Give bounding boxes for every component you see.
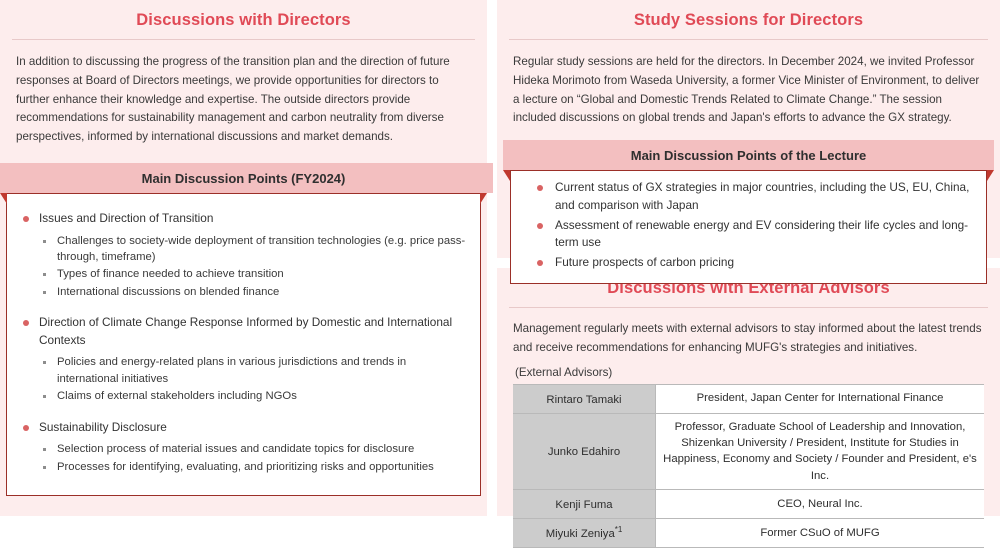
bullet-dot-icon xyxy=(537,260,543,266)
sub-bullet-square-icon xyxy=(43,395,46,398)
list-item: International discussions on blended fin… xyxy=(39,284,466,300)
bullet-dot-icon xyxy=(23,320,29,326)
sub-bullet-text: Policies and energy-related plans in var… xyxy=(57,356,406,384)
sub-bullet-text: Selection process of material issues and… xyxy=(57,443,414,455)
bullet-list-level2: Challenges to society-wide deployment of… xyxy=(39,233,466,301)
advisor-name: Miyuki Zeniya xyxy=(546,528,615,540)
list-item: Current status of GX strategies in major… xyxy=(521,179,974,214)
bullet-group: Issues and Direction of Transition Chall… xyxy=(19,210,466,300)
ribbon-fold-left-icon xyxy=(503,170,510,181)
sub-bullet-square-icon xyxy=(43,466,46,469)
sub-bullet-text: Processes for identifying, evaluating, a… xyxy=(57,461,434,473)
lecture-point-text: Assessment of renewable energy and EV co… xyxy=(555,218,968,250)
list-item: Assessment of renewable energy and EV co… xyxy=(521,217,974,252)
right-bottom-intro-text: Management regularly meets with external… xyxy=(497,308,1000,364)
bullet-dot-icon xyxy=(23,425,29,431)
table-row: Miyuki Zeniya*1 Former CSuO of MUFG xyxy=(513,519,984,548)
left-column: Discussions with Directors In addition t… xyxy=(0,0,487,516)
advisor-role-cell: CEO, Neural Inc. xyxy=(656,490,985,519)
list-item: Types of finance needed to achieve trans… xyxy=(39,266,466,282)
page-title-right-top: Study Sessions for Directors xyxy=(497,0,1000,39)
advisors-table-wrap: (External Advisors) Rintaro Tamaki Presi… xyxy=(497,364,1000,548)
bullet-dot-icon xyxy=(23,216,29,222)
right-ribbon-wrap: Main Discussion Points of the Lecture xyxy=(497,140,1000,170)
lecture-point-text: Future prospects of carbon pricing xyxy=(555,255,734,269)
bullet-dot-icon xyxy=(537,185,543,191)
bullet-list-level1: Sustainability Disclosure Selection proc… xyxy=(19,419,466,475)
bullet-group: Sustainability Disclosure Selection proc… xyxy=(19,419,466,475)
advisor-name-cell: Miyuki Zeniya*1 xyxy=(513,519,656,548)
advisor-name-cell: Junko Edahiro xyxy=(513,413,656,490)
list-item: Future prospects of carbon pricing xyxy=(521,254,974,272)
sub-bullet-text: Types of finance needed to achieve trans… xyxy=(57,268,284,280)
footnote-marker: *1 xyxy=(615,525,623,534)
lecture-points-list: Current status of GX strategies in major… xyxy=(521,179,974,271)
sub-bullet-square-icon xyxy=(43,291,46,294)
sub-bullet-text: International discussions on blended fin… xyxy=(57,286,279,298)
advisor-name: Kenji Fuma xyxy=(555,499,612,511)
ribbon-fold-left-icon xyxy=(0,193,7,204)
list-item: Challenges to society-wide deployment of… xyxy=(39,233,466,266)
list-item: Direction of Climate Change Response Inf… xyxy=(19,314,466,405)
bullet-heading: Direction of Climate Change Response Inf… xyxy=(39,315,452,347)
sub-bullet-text: Challenges to society-wide deployment of… xyxy=(57,235,465,263)
bullet-heading: Sustainability Disclosure xyxy=(39,420,167,434)
list-item: Issues and Direction of Transition Chall… xyxy=(19,210,466,300)
advisors-table-caption: (External Advisors) xyxy=(513,364,984,384)
right-top-intro-text: Regular study sessions are held for the … xyxy=(497,40,1000,138)
page-root: Discussions with Directors In addition t… xyxy=(0,0,1000,516)
left-ribbon-wrap: Main Discussion Points (FY2024) xyxy=(0,163,487,193)
advisor-role-cell: President, Japan Center for Internationa… xyxy=(656,384,985,413)
page-title-left: Discussions with Directors xyxy=(0,0,487,39)
ribbon-fold-right-icon xyxy=(987,170,994,181)
advisor-name: Rintaro Tamaki xyxy=(546,393,621,405)
sub-bullet-square-icon xyxy=(43,448,46,451)
bullet-heading: Issues and Direction of Transition xyxy=(39,211,213,225)
right-column: Study Sessions for Directors Regular stu… xyxy=(497,0,1000,516)
list-item: Sustainability Disclosure Selection proc… xyxy=(19,419,466,475)
advisors-table: Rintaro Tamaki President, Japan Center f… xyxy=(513,384,984,548)
right-banner-title: Main Discussion Points of the Lecture xyxy=(503,140,994,170)
list-item: Policies and energy-related plans in var… xyxy=(39,354,466,387)
bullet-dot-icon xyxy=(537,223,543,229)
list-item: Processes for identifying, evaluating, a… xyxy=(39,459,466,475)
ribbon-fold-right-icon xyxy=(480,193,487,204)
advisor-name-cell: Rintaro Tamaki xyxy=(513,384,656,413)
bullet-group: Direction of Climate Change Response Inf… xyxy=(19,314,466,405)
lecture-point-text: Current status of GX strategies in major… xyxy=(555,180,969,212)
list-item: Selection process of material issues and… xyxy=(39,441,466,457)
advisor-name-cell: Kenji Fuma xyxy=(513,490,656,519)
list-item: Claims of external stakeholders includin… xyxy=(39,388,466,404)
table-row: Kenji Fuma CEO, Neural Inc. xyxy=(513,490,984,519)
bullet-list-level1: Direction of Climate Change Response Inf… xyxy=(19,314,466,405)
sub-bullet-text: Claims of external stakeholders includin… xyxy=(57,390,297,402)
advisor-role-cell: Professor, Graduate School of Leadership… xyxy=(656,413,985,490)
left-intro-text: In addition to discussing the progress o… xyxy=(0,40,487,157)
bullet-list-level1: Issues and Direction of Transition Chall… xyxy=(19,210,466,300)
sub-bullet-square-icon xyxy=(43,240,46,243)
left-points-box: Issues and Direction of Transition Chall… xyxy=(6,193,481,496)
sub-bullet-square-icon xyxy=(43,361,46,364)
left-banner-title: Main Discussion Points (FY2024) xyxy=(0,163,493,193)
discussions-with-directors-panel: Discussions with Directors In addition t… xyxy=(0,0,487,516)
lecture-points-box: Current status of GX strategies in major… xyxy=(510,170,987,283)
external-advisors-panel: Discussions with External Advisors Manag… xyxy=(497,268,1000,516)
advisor-role-cell: Former CSuO of MUFG xyxy=(656,519,985,548)
table-row: Junko Edahiro Professor, Graduate School… xyxy=(513,413,984,490)
bullet-list-level2: Policies and energy-related plans in var… xyxy=(39,354,466,404)
advisor-name: Junko Edahiro xyxy=(548,446,620,458)
study-sessions-panel: Study Sessions for Directors Regular stu… xyxy=(497,0,1000,258)
table-row: Rintaro Tamaki President, Japan Center f… xyxy=(513,384,984,413)
bullet-list-level2: Selection process of material issues and… xyxy=(39,441,466,475)
sub-bullet-square-icon xyxy=(43,273,46,276)
